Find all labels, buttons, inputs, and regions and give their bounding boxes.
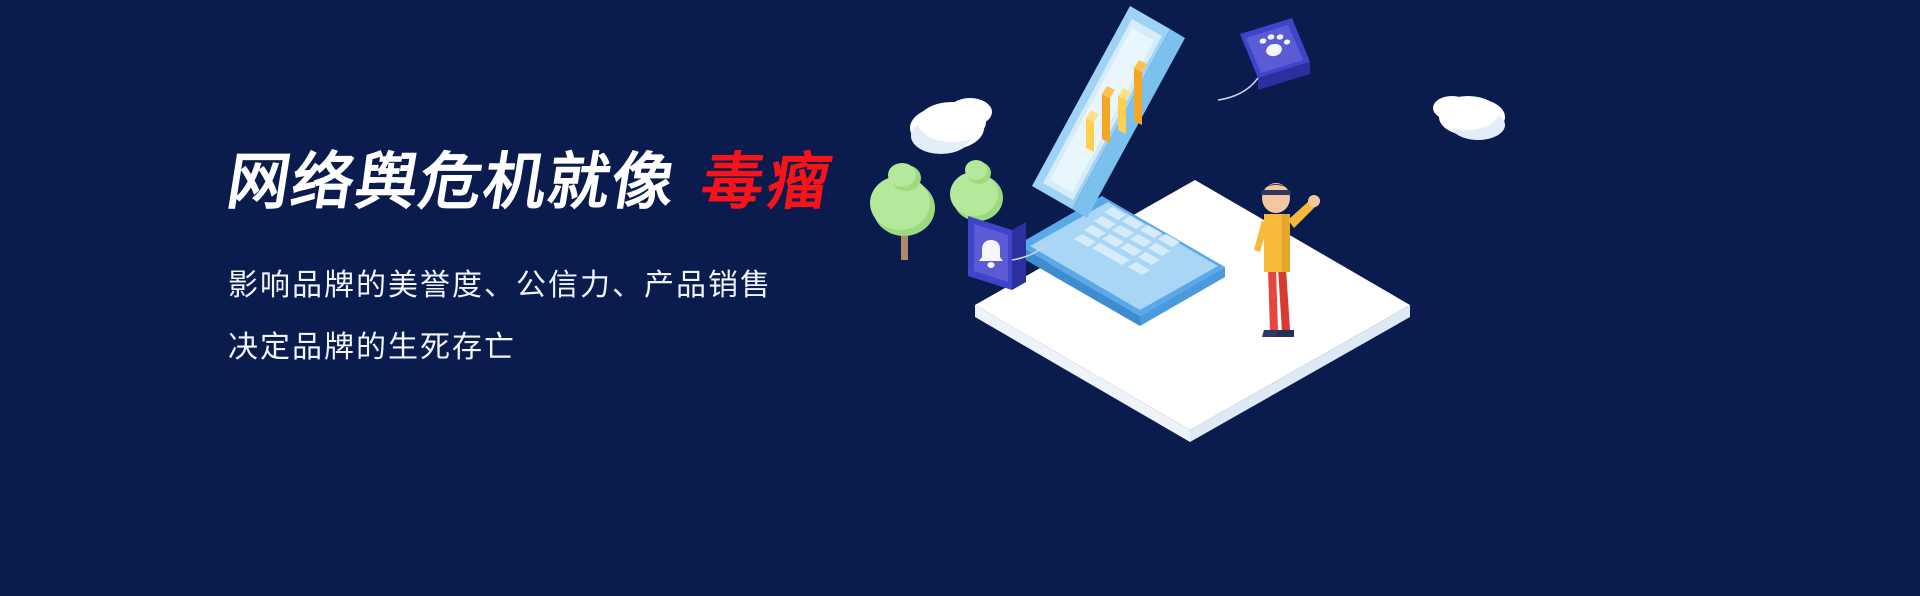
cloud-small-icon	[1433, 96, 1505, 140]
isometric-illustration	[840, 0, 1560, 596]
headline-accent: 毒瘤	[697, 148, 840, 217]
tree-left-icon	[870, 163, 935, 260]
platform	[975, 180, 1410, 442]
headline-main: 网络舆危机就像	[223, 148, 682, 217]
paw-panel-icon	[1218, 18, 1310, 100]
hero-banner: 网络舆危机就像毒瘤 影响品牌的美誉度、公信力、产品销售 决定品牌的生死存亡	[0, 0, 1920, 596]
laptop-screen	[1032, 6, 1185, 218]
cloud-large-icon	[910, 98, 992, 154]
